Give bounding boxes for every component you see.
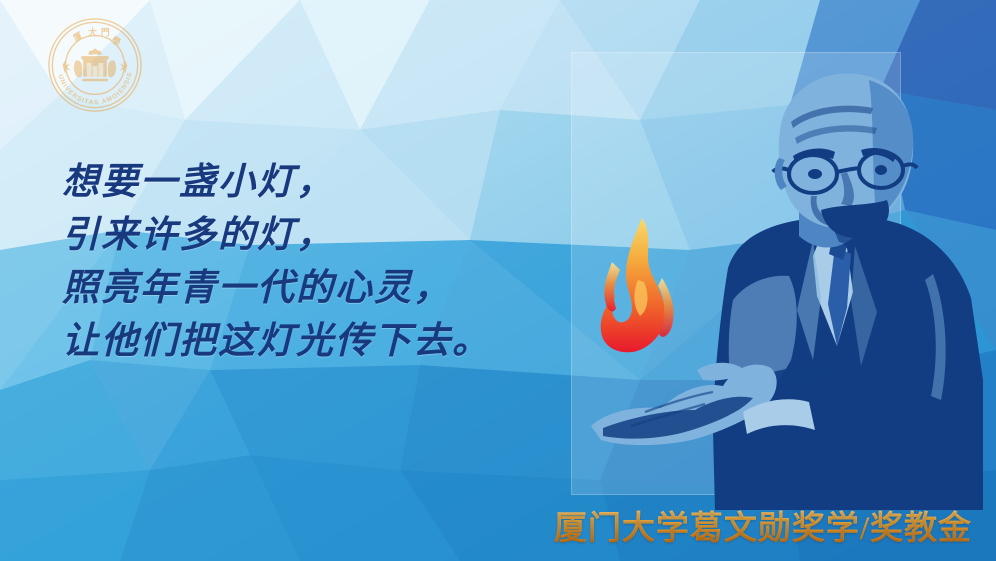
- svg-text:門: 門: [101, 28, 110, 38]
- quote-line-4: 让他们把这灯光传下去。: [62, 315, 532, 368]
- poster-root: 厦 大 門 學 UNIVERSITAS AMOIENSIS: [0, 0, 996, 561]
- svg-text:學: 學: [110, 34, 123, 48]
- quote-line-1: 想要一盏小灯，: [62, 156, 532, 209]
- university-seal-logo: 厦 大 門 學 UNIVERSITAS AMOIENSIS: [46, 16, 144, 114]
- scholarship-title: 厦门大学葛文勋奖学/奖教金: [554, 501, 972, 549]
- footer-title-bar: 厦门大学葛文勋奖学/奖教金: [0, 501, 972, 549]
- quote-block: 想要一盏小灯， 引来许多的灯， 照亮年青一代的心灵， 让他们把这灯光传下去。: [62, 156, 532, 368]
- flame-icon: [592, 216, 684, 356]
- quote-line-2: 引来许多的灯，: [62, 209, 532, 262]
- svg-text:大: 大: [88, 27, 97, 38]
- quote-line-3: 照亮年青一代的心灵，: [62, 262, 532, 315]
- svg-text:厦: 厦: [71, 30, 84, 43]
